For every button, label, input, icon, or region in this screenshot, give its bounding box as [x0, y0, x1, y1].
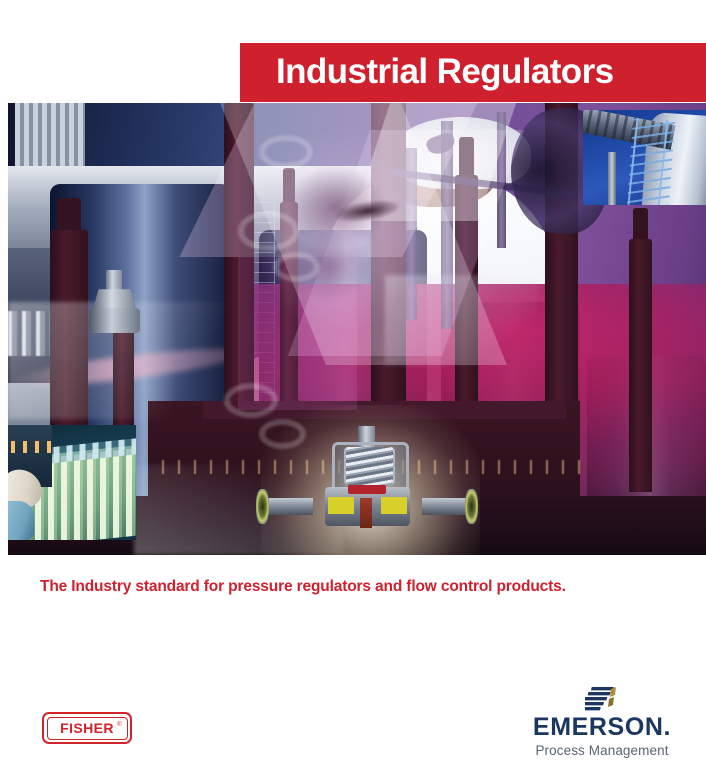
collage-haze [385, 275, 539, 365]
refinery-column [629, 239, 651, 492]
title-banner: Industrial Regulators [240, 43, 706, 102]
regulator-inlet-flange [256, 489, 269, 524]
machine-pipes [15, 103, 85, 175]
regulator-adjusting-screw [106, 270, 122, 292]
ghost-ring [259, 135, 313, 170]
inset-operator-sleeve [8, 501, 34, 540]
regulator-spring [344, 447, 395, 485]
emerson-tagline: Process Management [532, 743, 672, 758]
inset-support-column [590, 144, 601, 205]
hero-collage-image [8, 103, 706, 555]
emerson-e-mark-icon [585, 686, 619, 712]
regulator-valve-plug [360, 498, 372, 527]
regulator-outlet-flange [465, 489, 478, 524]
product-sanitary-regulator [88, 270, 140, 333]
regulator-flow-port [328, 497, 354, 514]
product-cutaway-regulator [308, 433, 427, 546]
regulator-body [89, 308, 139, 333]
fisher-logo: FISHER ® [42, 712, 132, 744]
tagline: The Industry standard for pressure regul… [40, 578, 566, 596]
ghost-ring [238, 211, 299, 250]
emerson-wordmark: EMERSON. [532, 715, 672, 740]
inset-bottling-line-photo [8, 425, 136, 540]
inset-industrial-structure-photo [583, 110, 706, 205]
fisher-logo-border: FISHER ® [47, 717, 128, 740]
fisher-trademark-symbol: ® [117, 722, 121, 728]
page-title: Industrial Regulators [276, 52, 613, 92]
regulator-flow-port [381, 497, 407, 514]
regulator-diaphragm-seat [348, 485, 386, 494]
inset-indicator-lights [11, 441, 55, 453]
emerson-logo: EMERSON. Process Management [532, 686, 672, 762]
inset-support-column [608, 152, 617, 205]
regulator-outlet-pipe [422, 498, 469, 515]
brochure-cover-page: Industrial Regulators The Industry stand… [0, 0, 706, 776]
fisher-wordmark: FISHER [60, 720, 114, 736]
regulator-inlet-pipe [265, 498, 312, 515]
